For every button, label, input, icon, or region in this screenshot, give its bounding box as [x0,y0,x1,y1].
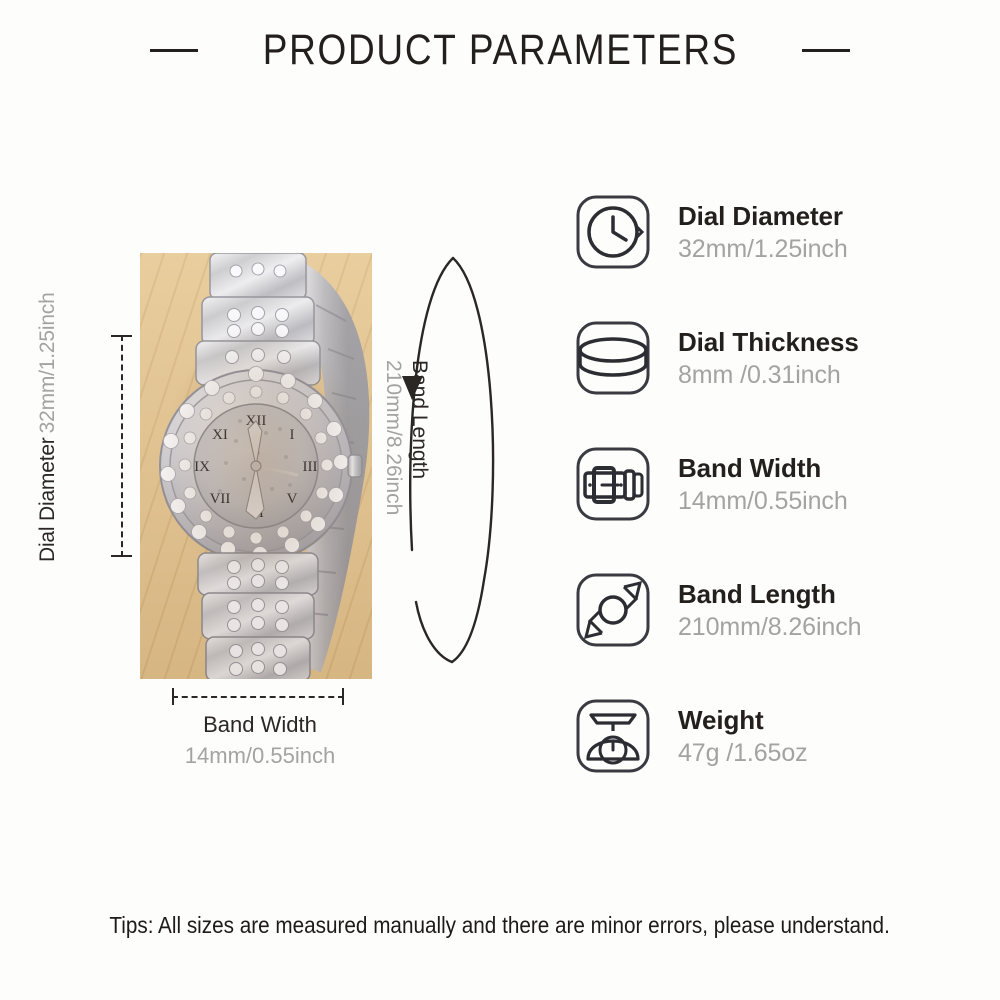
spec-text-dial-diameter: Dial Diameter 32mm/1.25inch [678,199,848,266]
spec-name: Band Width [678,451,848,485]
title-dash-left [150,49,198,52]
measure-dashed-line-h [172,696,344,698]
dial-diameter-label: Dial Diameter 32mm/1.25inch [36,98,106,330]
spec-text-band-width: Band Width 14mm/0.55inch [678,451,848,518]
spec-text-band-length: Band Length 210mm/8.26inch [678,577,861,644]
spec-value: 210mm/8.26inch [678,611,861,644]
spec-name: Dial Thickness [678,325,859,359]
spec-value: 47g /1.65oz [678,737,808,770]
spec-row-dial-thickness: Dial Thickness 8mm /0.31inch [572,306,972,410]
cylinder-icon [572,317,654,399]
title-dash-right [802,49,850,52]
dial-diameter-measure-line [111,335,133,557]
spec-name: Dial Diameter [678,199,848,233]
measure-dashed-line [121,335,123,557]
watch-diagonal-icon [572,569,654,651]
band-width-measure-line [172,688,344,706]
tips-text: Tips: All sizes are measured manually an… [110,912,890,939]
band-width-label-value: 14mm/0.55inch [120,740,400,772]
dial-diameter-label-name: Dial Diameter [36,437,60,562]
spec-value: 14mm/0.55inch [678,485,848,518]
spec-value: 32mm/1.25inch [678,233,848,266]
product-photo: XII I III V VI VII IX XI [140,253,372,679]
footer: Tips: All sizes are measured manually an… [0,912,1000,939]
page-title: PRODUCT PARAMETERS [262,26,737,75]
spec-list: Dial Diameter 32mm/1.25inch Dial Thickne… [572,180,972,810]
spec-name: Band Length [678,577,861,611]
spec-value: 8mm /0.31inch [678,359,859,392]
band-length-label: Band Length 210mm/8.26inch [372,360,432,515]
spec-row-dial-diameter: Dial Diameter 32mm/1.25inch [572,180,972,284]
watch-band-icon [572,443,654,525]
page-title-row: PRODUCT PARAMETERS [0,22,1000,78]
measure-cap-right [342,688,344,705]
spec-row-weight: Weight 47g /1.65oz [572,684,972,788]
band-width-label-name: Band Width [120,710,400,740]
watch-dial-icon [572,191,654,273]
product-parameters-page: PRODUCT PARAMETERS [0,0,1000,1000]
spec-row-band-length: Band Length 210mm/8.26inch [572,558,972,662]
band-length-label-value: 210mm/8.26inch [380,360,406,515]
spec-name: Weight [678,703,808,737]
dial-diameter-label-value: 32mm/1.25inch [36,292,60,433]
photo-lighting-overlay [140,253,372,679]
spec-row-band-width: Band Width 14mm/0.55inch [572,432,972,536]
spec-text-dial-thickness: Dial Thickness 8mm /0.31inch [678,325,859,392]
band-width-label: Band Width 14mm/0.55inch [120,710,400,772]
kitchen-scale-icon [572,695,654,777]
band-length-label-name: Band Length [406,360,432,515]
spec-text-weight: Weight 47g /1.65oz [678,703,808,770]
measure-cap-bottom [111,555,132,557]
